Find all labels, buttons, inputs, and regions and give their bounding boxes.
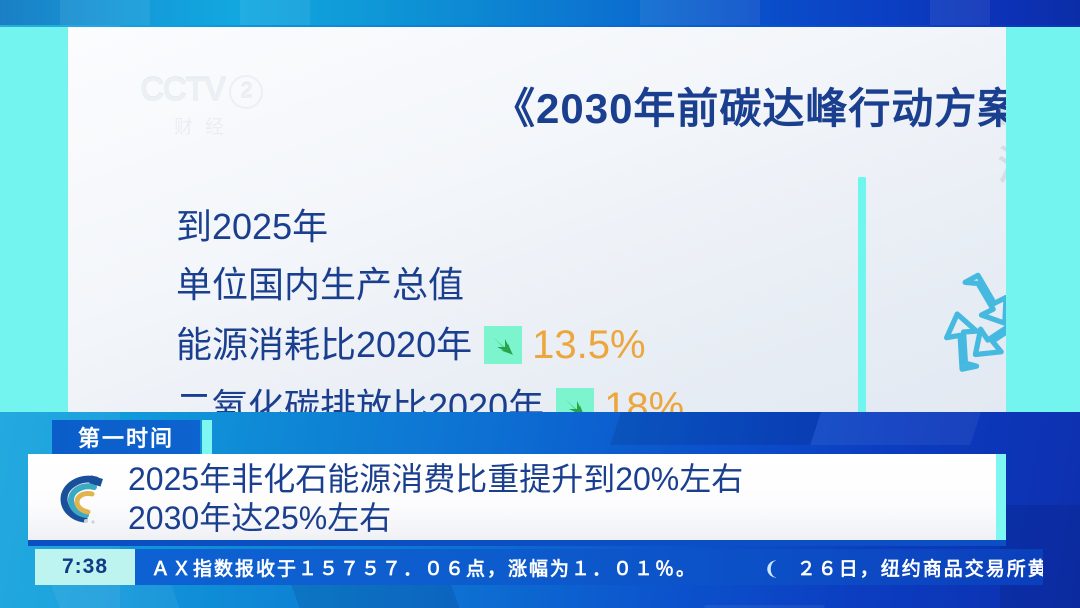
lower-third-line-1: 2025年非化石能源消费比重提升到20%左右: [128, 460, 743, 499]
ticker-text-part-1: ＡＸ指数报收于１５７５７．０６点，涨幅为１．０１％。: [151, 559, 697, 580]
recycle-icon: [908, 259, 1006, 399]
arrow-down-right-icon: [484, 326, 522, 364]
lower-third-banner: 2025年非化石能源消费比重提升到20%左右 2030年达25%左右: [28, 454, 1006, 540]
ticker-text-part-2: ２６日，纽约商品交易所黄金期货: [797, 559, 1043, 580]
cctv-channel-number: 2: [229, 75, 263, 109]
body-text-block: 到2025年 单位国内生产总值 能源消耗比2020年 13.5% 二氧化碳排放比…: [176, 209, 684, 412]
lower-third-line-2: 2030年达25%左右: [128, 499, 743, 538]
lower-third-underline: [28, 540, 1006, 546]
body-line: 能源消耗比2020年 13.5%: [176, 325, 684, 365]
cctv-channel-sub: 财经: [174, 112, 300, 139]
right-cyan-band: [1006, 27, 1080, 412]
body-line-value: 18%: [604, 387, 684, 412]
page-title: 《2030年前碳达峰行动方案》: [493, 75, 1006, 136]
body-line-text: 单位国内生产总值: [176, 267, 464, 303]
body-line-text: 能源消耗比2020年: [176, 327, 472, 363]
program-name-badge: 第一时间: [52, 420, 200, 454]
lower-third-cyan-edge: [996, 454, 1006, 540]
body-line-text: 二氧化碳排放比2020年: [176, 389, 544, 412]
ticker-text: ＡＸ指数报收于１５７５７．０６点，涨幅为１．０１％。 ❨ ２６日，纽约商品交易所…: [151, 554, 1043, 581]
body-line-value: 13.5%: [532, 325, 645, 365]
info-card: CCTV2 财经 高清 .cn 《2030年前碳达峰行动方案》 到2025年: [68, 27, 1006, 412]
left-cyan-band: [0, 27, 68, 412]
body-line-text: 到2025年: [176, 209, 328, 245]
cctv-logo-text: CCTV: [140, 71, 225, 109]
lower-third-text: 2025年非化石能源消费比重提升到20%左右 2030年达25%左右: [128, 460, 743, 538]
ticker-arc-mark-icon: ❨: [764, 559, 782, 580]
cctv-logo-watermark: CCTV2 财经: [140, 71, 300, 141]
program-c-arc-logo-icon: [50, 466, 112, 528]
body-line: 二氧化碳排放比2020年 18%: [176, 387, 684, 412]
program-badge-accent: [202, 420, 212, 454]
tv-broadcast-screen: CCTV2 财经 高清 .cn 《2030年前碳达峰行动方案》 到2025年: [0, 0, 1080, 608]
vertical-divider: [858, 177, 866, 412]
clock-time: 7:38: [35, 549, 135, 585]
body-line: 单位国内生产总值: [176, 267, 684, 303]
news-ticker: 7:38 ＡＸ指数报收于１５７５７．０６点，涨幅为１．０１％。 ❨ ２６日，纽约…: [35, 549, 1043, 585]
arrow-down-right-icon: [556, 388, 594, 412]
body-line: 到2025年: [176, 209, 684, 245]
top-gradient-bar: [0, 0, 1080, 25]
